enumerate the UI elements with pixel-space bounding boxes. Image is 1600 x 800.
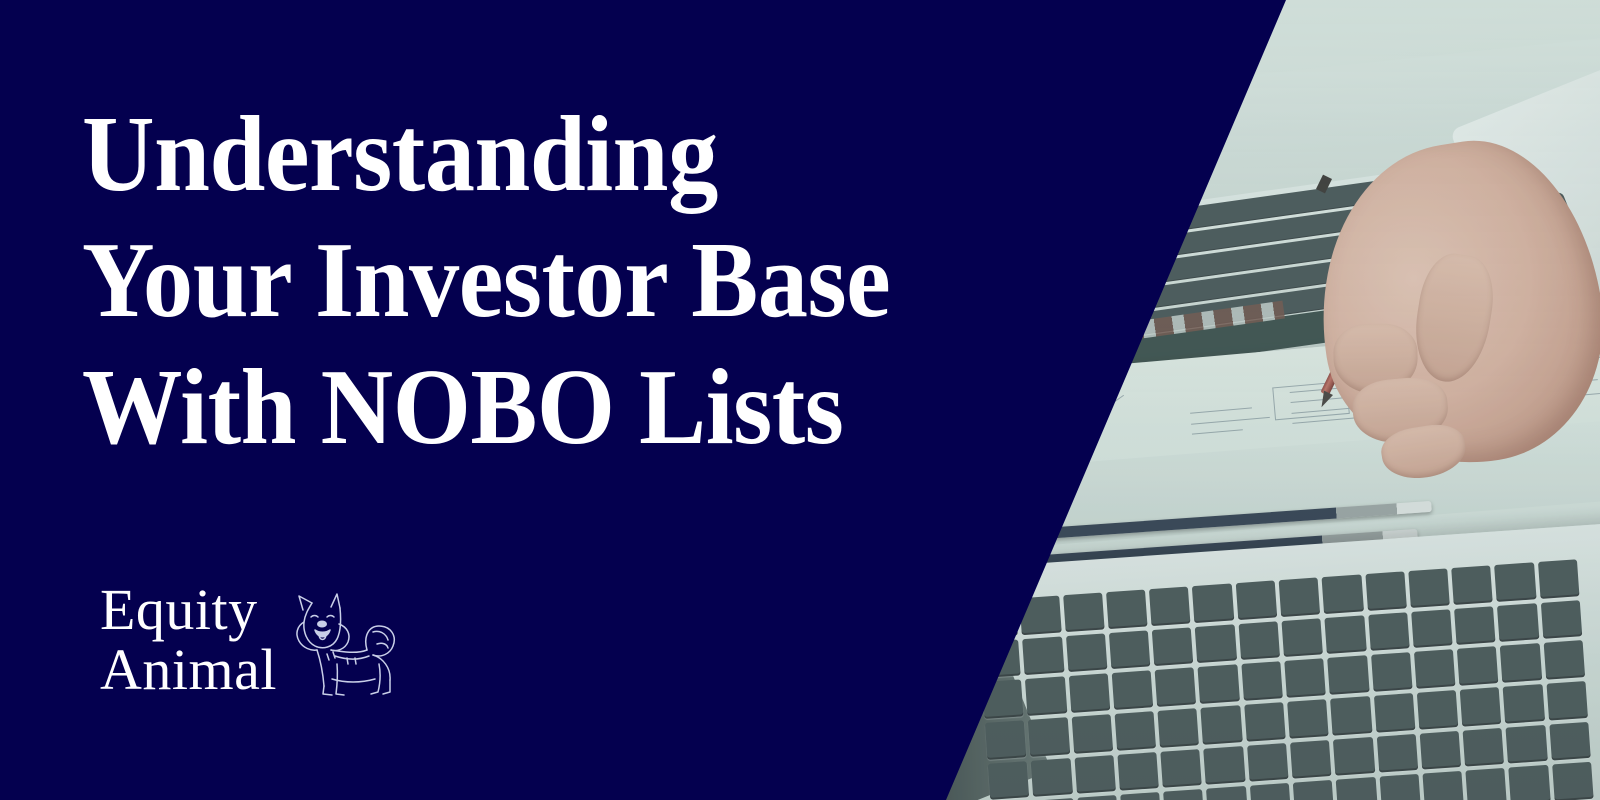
brand-wordmark: Equity Animal: [100, 580, 277, 701]
title-line-3: With NOBO Lists: [82, 345, 1012, 471]
promo-banner: Understanding Your Investor Base With NO…: [0, 0, 1600, 800]
title-line-1: Understanding: [82, 92, 1012, 218]
page-title: Understanding Your Investor Base With NO…: [82, 92, 1012, 471]
brand-logo: Equity Animal: [100, 580, 407, 707]
samoyed-dog-icon: [287, 584, 407, 707]
title-line-2: Your Investor Base: [82, 218, 1012, 344]
brand-word-animal: Animal: [100, 640, 277, 700]
brand-word-equity: Equity: [100, 580, 277, 640]
